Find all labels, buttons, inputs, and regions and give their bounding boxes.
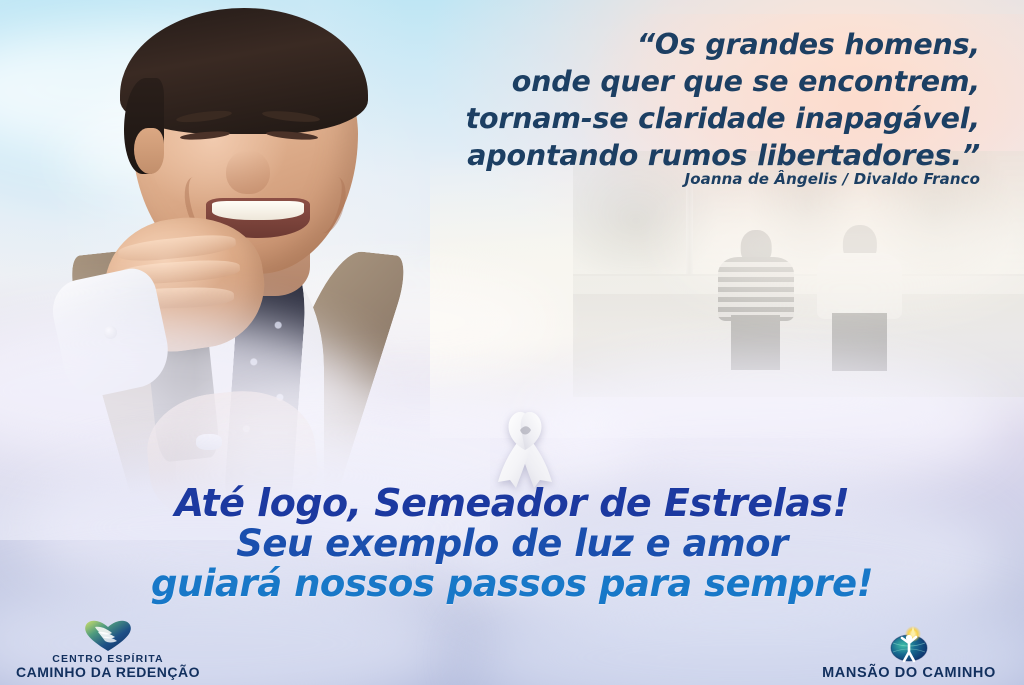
- headline-line-2: Seu exemplo de luz e amor: [0, 525, 1024, 563]
- logo-left-text: CENTRO ESPÍRITA CAMINHO DA REDENÇÃO: [8, 654, 208, 681]
- globe-figure-star-icon: [885, 625, 933, 663]
- portrait-cuff-button: [104, 326, 117, 339]
- ghost-photo-ground: [573, 294, 1024, 398]
- quote-attribution: Joanna de Ângelis / Divaldo Franco: [410, 170, 980, 188]
- logo-right-text: MANSÃO DO CAMINHO: [804, 665, 1014, 681]
- ghost-person-legs: [731, 315, 780, 370]
- headline-line-1: Até logo, Semeador de Estrelas!: [0, 484, 1024, 523]
- logo-centro-espirita-caminho-da-redencao[interactable]: CENTRO ESPÍRITA CAMINHO DA REDENÇÃO: [8, 618, 208, 681]
- quote-line-4: apontando rumos libertadores.”: [410, 137, 980, 174]
- headline-block: Até logo, Semeador de Estrelas! Seu exem…: [0, 484, 1024, 603]
- heart-hands-icon: [82, 618, 134, 652]
- quote-line-2: onde quer que se encontrem,: [410, 63, 980, 100]
- ghost-person-torso: [718, 257, 795, 321]
- logo-left-line-2: CAMINHO DA REDENÇÃO: [8, 665, 208, 681]
- quote-line-3: tornam-se claridade inapagável,: [410, 100, 980, 137]
- headline-line-3: guiará nossos passos para sempre!: [0, 565, 1024, 603]
- quote-text: “Os grandes homens, onde quer que se enc…: [410, 26, 980, 174]
- ghost-person-legs: [832, 313, 887, 370]
- quote-line-1: “Os grandes homens,: [410, 26, 980, 63]
- ghost-person-torso: [817, 253, 903, 319]
- portrait-teeth: [212, 201, 304, 220]
- logo-right-line-1: MANSÃO DO CAMINHO: [804, 665, 1014, 681]
- portrait-ear: [134, 128, 164, 174]
- logo-mansao-do-caminho[interactable]: MANSÃO DO CAMINHO: [804, 625, 1014, 681]
- ghost-photo-person-white-shirt: [817, 225, 903, 368]
- ghost-photo-person-striped-shirt: [718, 230, 795, 368]
- tribute-poster: “Os grandes homens, onde quer que se enc…: [0, 0, 1024, 685]
- portrait-divaldo-franco: [0, 0, 470, 520]
- portrait-nose: [226, 150, 270, 194]
- white-ribbon-icon: [488, 410, 562, 488]
